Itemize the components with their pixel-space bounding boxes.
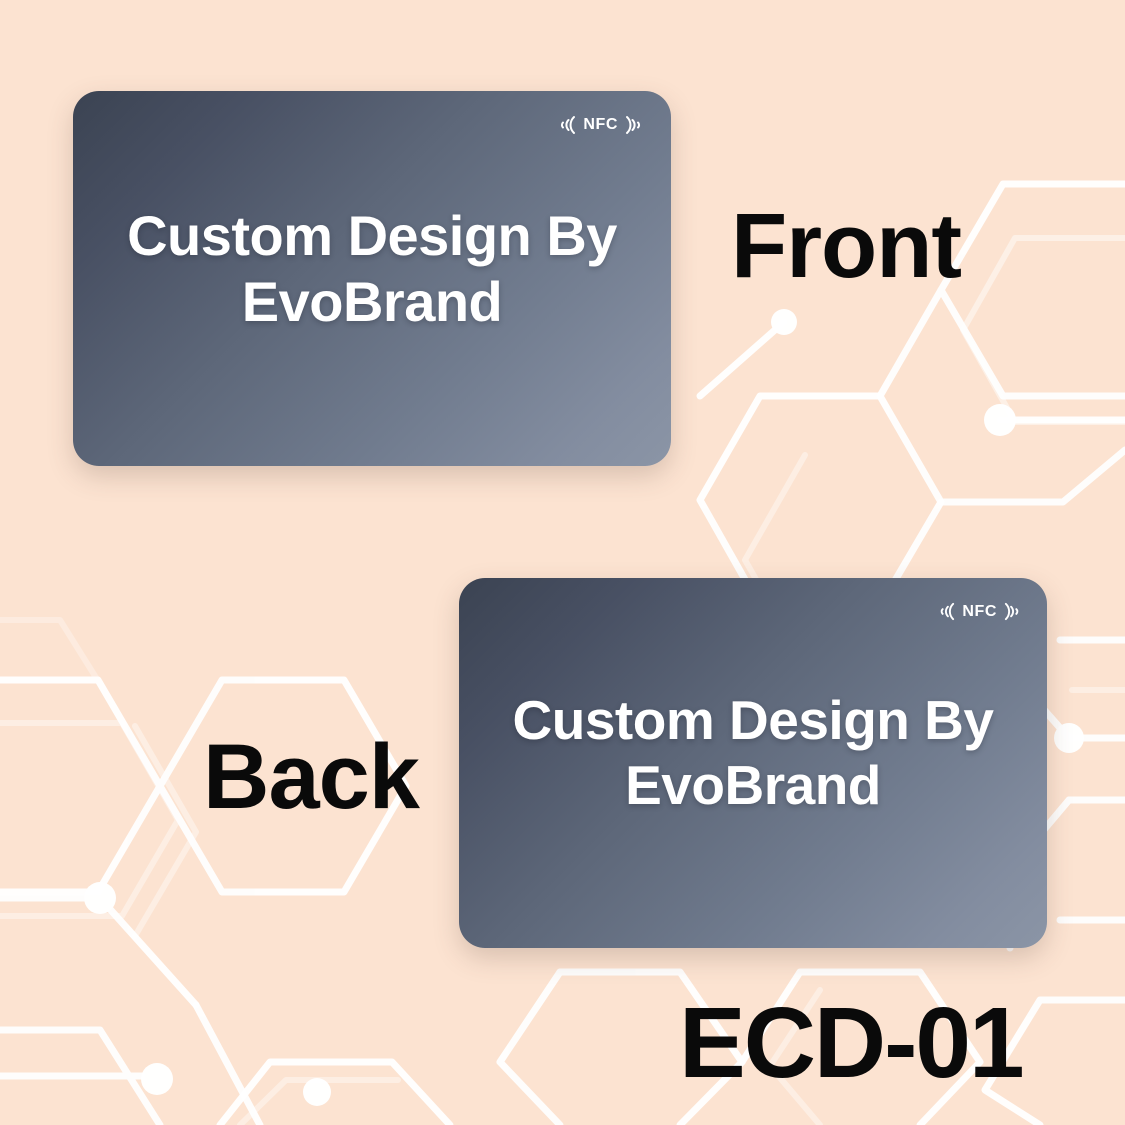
caption-back: Back — [203, 731, 419, 823]
card-title-front: Custom Design By EvoBrand — [73, 203, 671, 335]
nfc-logo-back: NFC — [936, 600, 1023, 623]
caption-front: Front — [731, 200, 961, 292]
nfc-wave-right-icon — [1002, 600, 1023, 623]
nfc-label-back: NFC — [962, 604, 997, 620]
nfc-wave-right-icon — [623, 113, 645, 137]
nfc-wave-left-icon — [556, 113, 578, 137]
nfc-card-back[interactable]: NFC Custom Design By EvoBrand — [459, 578, 1047, 948]
nfc-wave-left-icon — [936, 600, 957, 623]
nfc-logo-front: NFC — [556, 113, 645, 137]
card-title-back: Custom Design By EvoBrand — [459, 688, 1047, 818]
nfc-label-front: NFC — [583, 117, 618, 133]
product-code-label: ECD-01 — [679, 993, 1023, 1093]
product-showcase-canvas: NFC Custom Design By EvoBrand NFC — [0, 0, 1125, 1125]
nfc-card-front[interactable]: NFC Custom Design By EvoBrand — [73, 91, 671, 466]
